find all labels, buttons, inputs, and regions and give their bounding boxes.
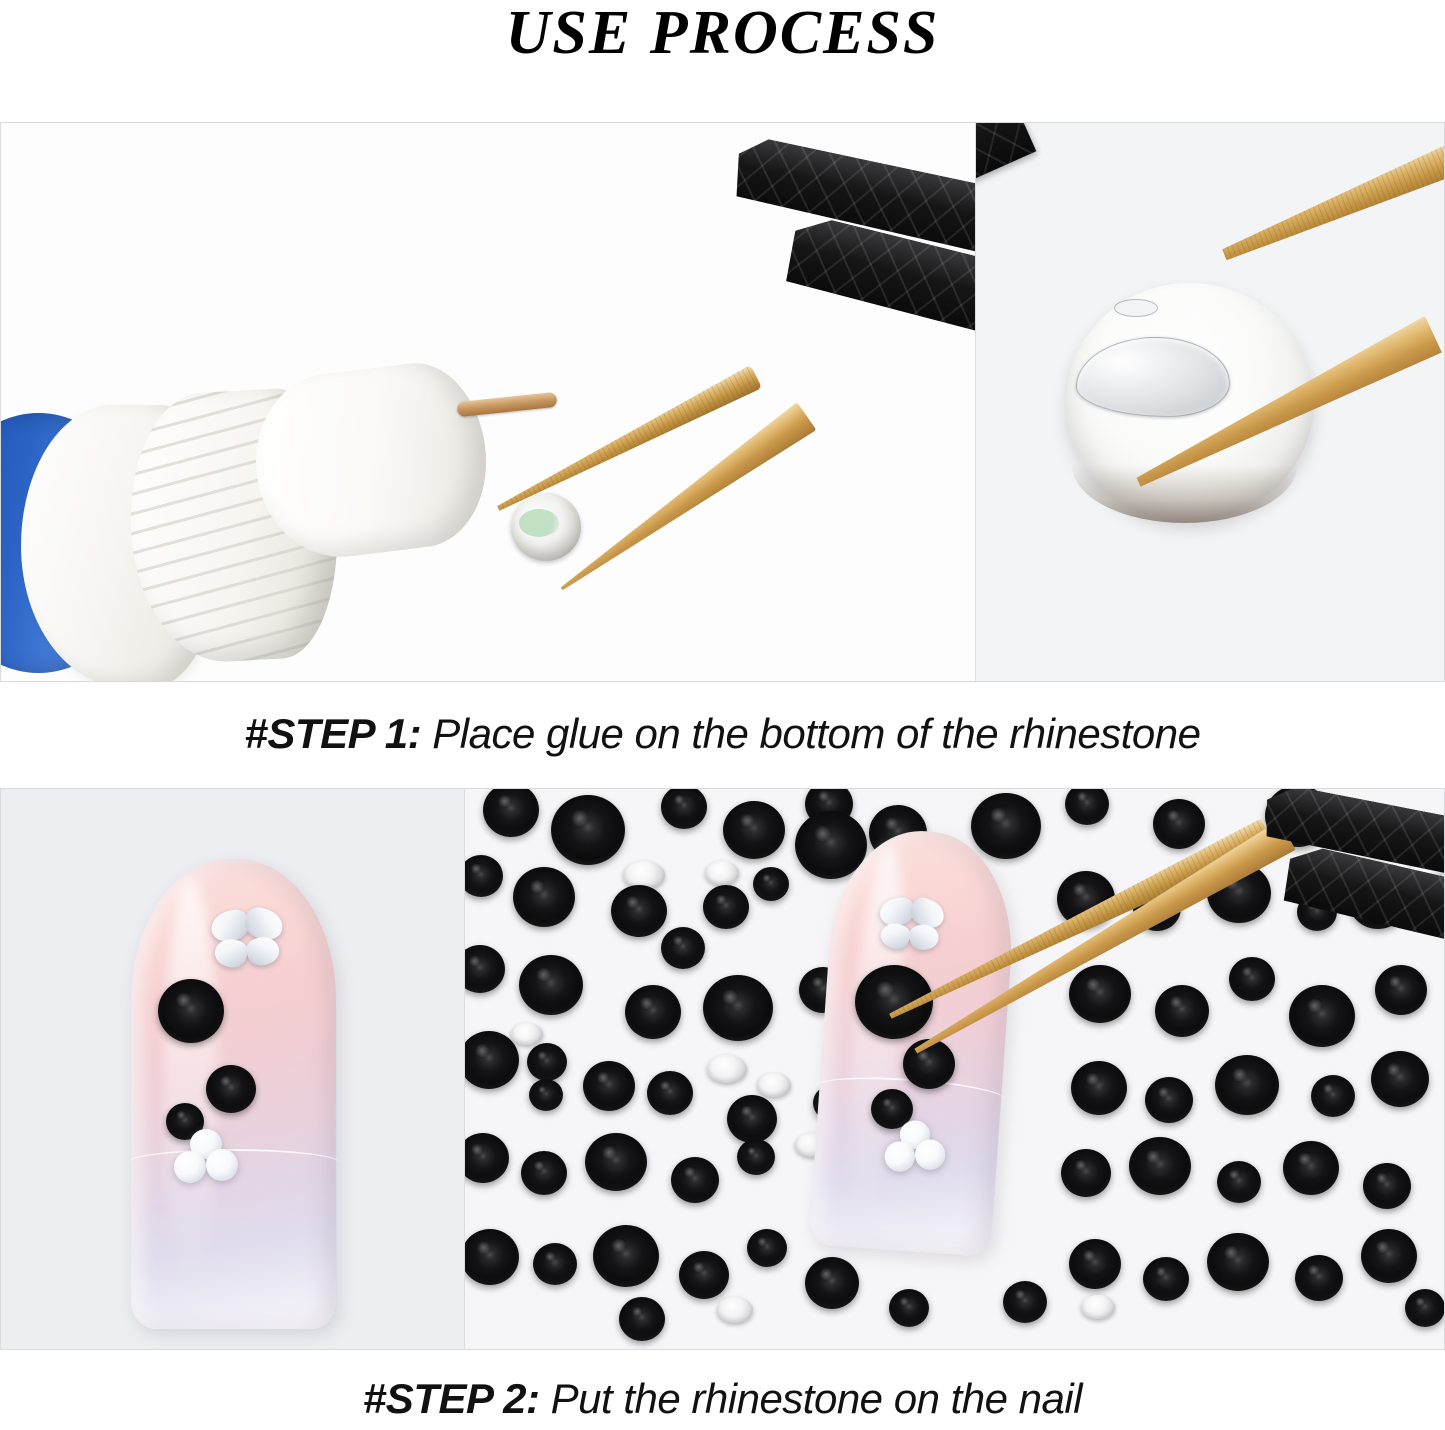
rhinestone-rim [1072, 465, 1297, 523]
step-1-text: Place glue on the bottom of the rhinesto… [432, 713, 1200, 755]
step-1-label: #STEP 1: [245, 713, 422, 755]
glue-bottle-tweezers-photo [1, 123, 975, 681]
glue-bottle-tip [456, 392, 557, 417]
rhinestone-black-large [158, 979, 224, 1043]
decorated-nail-photo [1, 789, 464, 1349]
rhinestone-black-medium [206, 1065, 256, 1113]
step-2-text: Put the rhinestone on the nail [551, 1378, 1082, 1420]
step-2-caption: #STEP 2: Put the rhinestone on the nail [0, 1368, 1445, 1430]
glue-drip [1114, 299, 1158, 317]
butterfly-rhinestone [876, 895, 946, 954]
step-1-image-row [0, 122, 1445, 682]
step-1-section: #STEP 1: Place glue on the bottom of the… [0, 122, 1445, 768]
step-1-caption: #STEP 1: Place glue on the bottom of the… [0, 700, 1445, 768]
butterfly-rhinestone [211, 909, 283, 967]
rhinestone-closeup-photo [975, 123, 1444, 681]
glue-blob [1076, 337, 1230, 417]
page-title: USE PROCESS [0, 0, 1445, 86]
tweezer-tip-upper [1216, 123, 1444, 273]
step-2-section: #STEP 2: Put the rhinestone on the nail [0, 788, 1445, 1430]
clover-rhinestone [174, 1129, 238, 1187]
rhinestone-with-glue [511, 493, 581, 561]
clover-rhinestone [884, 1120, 945, 1175]
tweezer-grip-corner-sliver [975, 123, 1036, 188]
tweezer-lower-arm-metal [551, 402, 816, 602]
step-2-label: #STEP 2: [363, 1378, 540, 1420]
step-2-image-row [0, 788, 1445, 1350]
rhinestones-nail-tweezers-photo [464, 789, 1444, 1349]
